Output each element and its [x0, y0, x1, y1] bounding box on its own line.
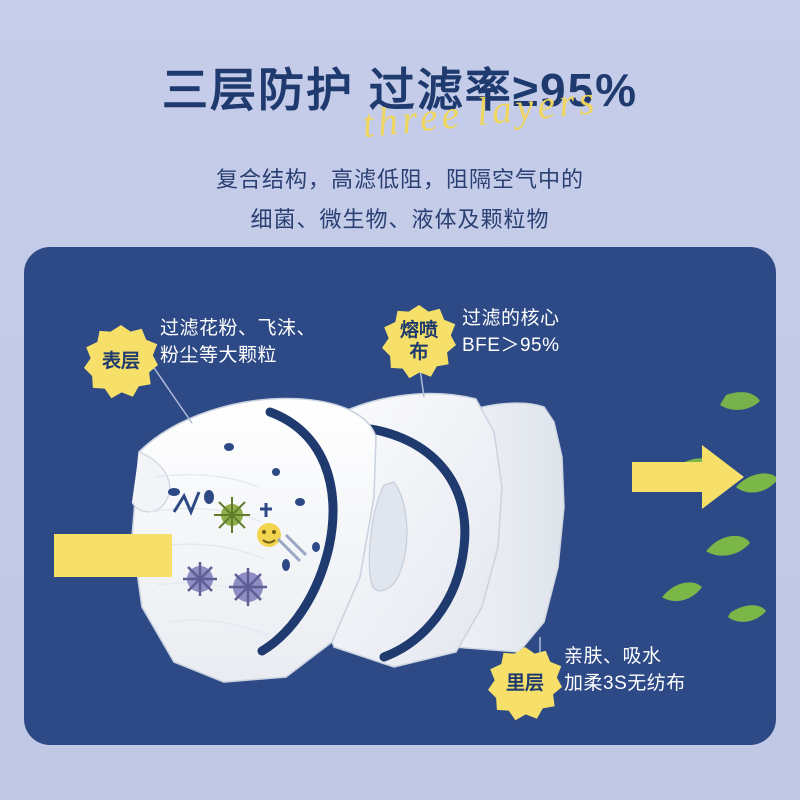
badge-meltblown-label-2: 布	[400, 342, 438, 364]
badge-surface-layer-label: 表层	[102, 351, 140, 373]
badge-meltblown-label-1: 熔喷	[400, 320, 438, 342]
page-title: 三层防护 过滤率≥95%	[0, 54, 800, 120]
subtitle-line-2: 细菌、微生物、液体及颗粒物	[0, 202, 800, 234]
callout-meltblown-text: 过滤的核心 BFE＞95%	[462, 305, 560, 359]
illustration-panel: 表层 过滤花粉、飞沫、 粉尘等大颗粒 熔喷 布 过滤的核心 BFE＞95% 里层…	[24, 247, 776, 745]
subtitle-line-1: 复合结构，高滤低阻，阻隔空气中的	[0, 162, 800, 194]
page-root: 三层防护 过滤率≥95% three layers 复合结构，高滤低阻，阻隔空气…	[0, 0, 800, 800]
callout-surface-layer-text: 过滤花粉、飞沫、 粉尘等大颗粒	[160, 315, 316, 369]
page-title-text: 三层防护 过滤率≥95%	[162, 64, 638, 116]
badge-inner-layer-label: 里层	[506, 673, 544, 695]
callout-inner-layer-text: 亲肤、吸水 加柔3S无纺布	[564, 643, 686, 697]
